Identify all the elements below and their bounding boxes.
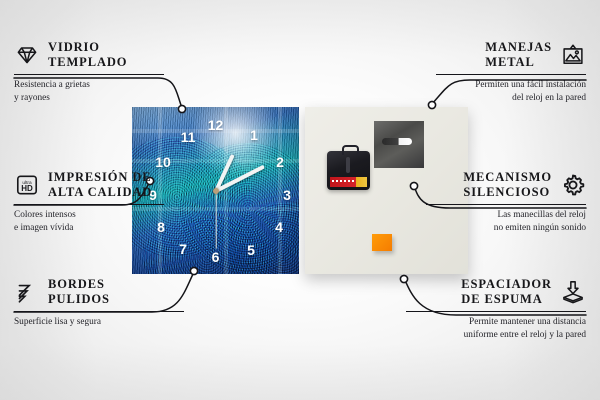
callout-title-line2: PULIDOS (48, 292, 110, 306)
product-image: 12 1 2 3 4 5 6 7 8 9 10 11 (132, 107, 468, 274)
foam-spacer-swatch (372, 234, 392, 251)
callout-bordes-pulidos[interactable]: BORDES PULIDOS Superficie lisa y segura (14, 277, 184, 329)
callout-description: Superficie lisa y segura (14, 316, 184, 329)
callout-rule (406, 311, 586, 313)
clock-numeral: 2 (276, 155, 284, 169)
clock-numeral: 6 (212, 250, 220, 264)
callout-rule (426, 204, 586, 206)
callout-title-line2: TEMPLADO (48, 55, 127, 69)
clock-numeral: 4 (275, 220, 283, 234)
clock-center-cap (213, 188, 219, 194)
callout-rule (14, 74, 164, 76)
callout-title-line2: METAL (485, 55, 534, 69)
callout-title-line2: DE ESPUMA (461, 292, 542, 306)
polished-edges-icon (14, 279, 40, 305)
callout-title-line2: SILENCIOSO (463, 185, 550, 199)
callout-title-line2: ALTA CALIDAD (48, 185, 152, 199)
callout-manejas-metal[interactable]: MANEJAS METAL Permiten una fácil instala… (436, 40, 586, 104)
clock-numeral: 12 (208, 118, 224, 132)
ultra-hd-badge-icon: ultra HD (14, 172, 40, 198)
callout-description: Las manecillas del reloj no emiten ningú… (426, 209, 586, 234)
callout-description: Resistencia a grietas y rayones (14, 79, 164, 104)
callout-title-line1: BORDES (48, 277, 105, 291)
clock-numeral: 7 (179, 242, 187, 256)
callout-mecanismo-silencioso[interactable]: MECANISMO SILENCIOSO Las manecillas del … (426, 170, 586, 234)
svg-text:HD: HD (21, 184, 33, 193)
foam-spacer-icon (560, 279, 586, 305)
callout-title-line1: ESPACIADOR (461, 277, 552, 291)
clock-second-hand (215, 191, 216, 249)
diamond-icon (14, 42, 40, 68)
callout-title-line1: IMPRESIÓN DE (48, 170, 152, 184)
callout-description: Permite mantener una distancia uniforme … (406, 316, 586, 341)
callout-espaciador-espuma[interactable]: ESPACIADOR DE ESPUMA Permite mantener un… (406, 277, 586, 341)
callout-description: Colores intensos e imagen vívida (14, 209, 164, 234)
clock-mechanism (327, 151, 370, 190)
callout-rule (436, 74, 586, 76)
picture-frame-icon (560, 42, 586, 68)
gear-icon (560, 172, 586, 198)
metal-hanger-icon (374, 121, 424, 168)
clock-numeral: 11 (181, 130, 196, 144)
callout-title-line1: MECANISMO (463, 170, 552, 184)
clock-numeral: 5 (247, 243, 255, 257)
clock-numeral: 1 (250, 128, 258, 142)
callout-rule (14, 311, 184, 313)
callout-title-line1: VIDRIO (48, 40, 100, 54)
callout-impresion-alta-calidad[interactable]: ultra HD IMPRESIÓN DE ALTA CALIDAD Color… (14, 170, 164, 234)
callout-title-line1: MANEJAS (485, 40, 552, 54)
callout-description: Permiten una fácil instalación del reloj… (436, 79, 586, 104)
clock-numeral: 10 (155, 155, 171, 169)
clock-numeral: 3 (283, 188, 291, 202)
callout-vidrio-templado[interactable]: VIDRIO TEMPLADO Resistencia a grietas y … (14, 40, 164, 104)
callout-rule (14, 204, 164, 206)
infographic-canvas: 12 1 2 3 4 5 6 7 8 9 10 11 (0, 0, 600, 400)
